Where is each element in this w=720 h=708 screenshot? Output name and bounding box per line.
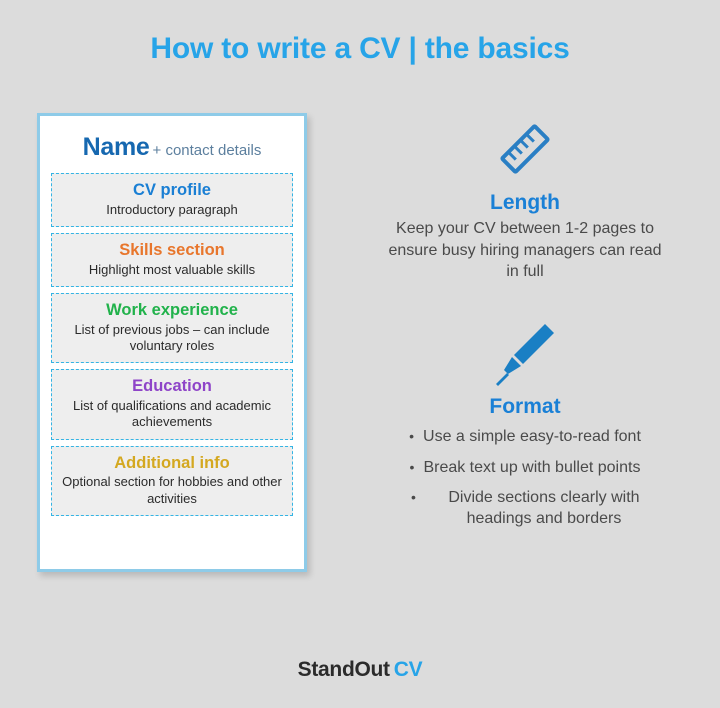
brand-name-cv: CV bbox=[394, 658, 423, 681]
cv-section-title: Skills section bbox=[56, 241, 288, 261]
ruler-icon bbox=[350, 113, 700, 185]
cv-section-title: CV profile bbox=[56, 181, 288, 201]
cv-structure-card: Name+ contact details CV profile Introdu… bbox=[37, 113, 307, 572]
cv-section-additional-info: Additional info Optional section for hob… bbox=[51, 446, 293, 516]
page-title: How to write a CV | the basics bbox=[0, 32, 720, 66]
cv-section-desc: Introductory paragraph bbox=[56, 202, 288, 218]
brand-name-standout: StandOut bbox=[298, 658, 390, 681]
list-item: • Divide sections clearly with headings … bbox=[350, 483, 700, 535]
feature-title-format: Format bbox=[350, 395, 700, 419]
cv-section-title: Additional info bbox=[56, 454, 288, 474]
bullet-icon: • bbox=[410, 458, 415, 477]
features-column: Length Keep your CV between 1-2 pages to… bbox=[350, 113, 700, 535]
cv-section-skills: Skills section Highlight most valuable s… bbox=[51, 233, 293, 287]
cv-section-desc: Highlight most valuable skills bbox=[56, 262, 288, 278]
cv-section-title: Education bbox=[56, 377, 288, 397]
bullet-icon: • bbox=[411, 488, 416, 507]
pen-nib-icon bbox=[350, 317, 700, 389]
list-item: • Break text up with bullet points bbox=[350, 453, 700, 484]
cv-section-work-experience: Work experience List of previous jobs – … bbox=[51, 293, 293, 363]
cv-name-header: Name+ contact details bbox=[51, 126, 293, 173]
feature-body-length: Keep your CV between 1-2 pages to ensure… bbox=[350, 218, 700, 283]
format-bullet-list: • Use a simple easy-to-read font • Break… bbox=[350, 422, 700, 535]
cv-contact-label: + contact details bbox=[153, 142, 262, 159]
cv-section-education: Education List of qualifications and aca… bbox=[51, 369, 293, 439]
cv-section-title: Work experience bbox=[56, 301, 288, 321]
feature-format: Format • Use a simple easy-to-read font … bbox=[350, 317, 700, 535]
bullet-icon: • bbox=[409, 427, 414, 446]
list-item-text: Divide sections clearly with headings an… bbox=[425, 488, 663, 530]
cv-name-label: Name bbox=[83, 133, 150, 161]
footer-logo: StandOutCV bbox=[0, 658, 720, 682]
list-item-text: Break text up with bullet points bbox=[423, 458, 640, 479]
cv-section-desc: List of qualifications and academic achi… bbox=[56, 398, 288, 431]
list-item-text: Use a simple easy-to-read font bbox=[423, 427, 641, 448]
list-item: • Use a simple easy-to-read font bbox=[350, 422, 700, 453]
feature-length: Length Keep your CV between 1-2 pages to… bbox=[350, 113, 700, 283]
cv-section-desc: List of previous jobs – can include volu… bbox=[56, 322, 288, 355]
feature-title-length: Length bbox=[350, 191, 700, 215]
cv-section-cv-profile: CV profile Introductory paragraph bbox=[51, 173, 293, 227]
cv-section-desc: Optional section for hobbies and other a… bbox=[56, 474, 288, 507]
